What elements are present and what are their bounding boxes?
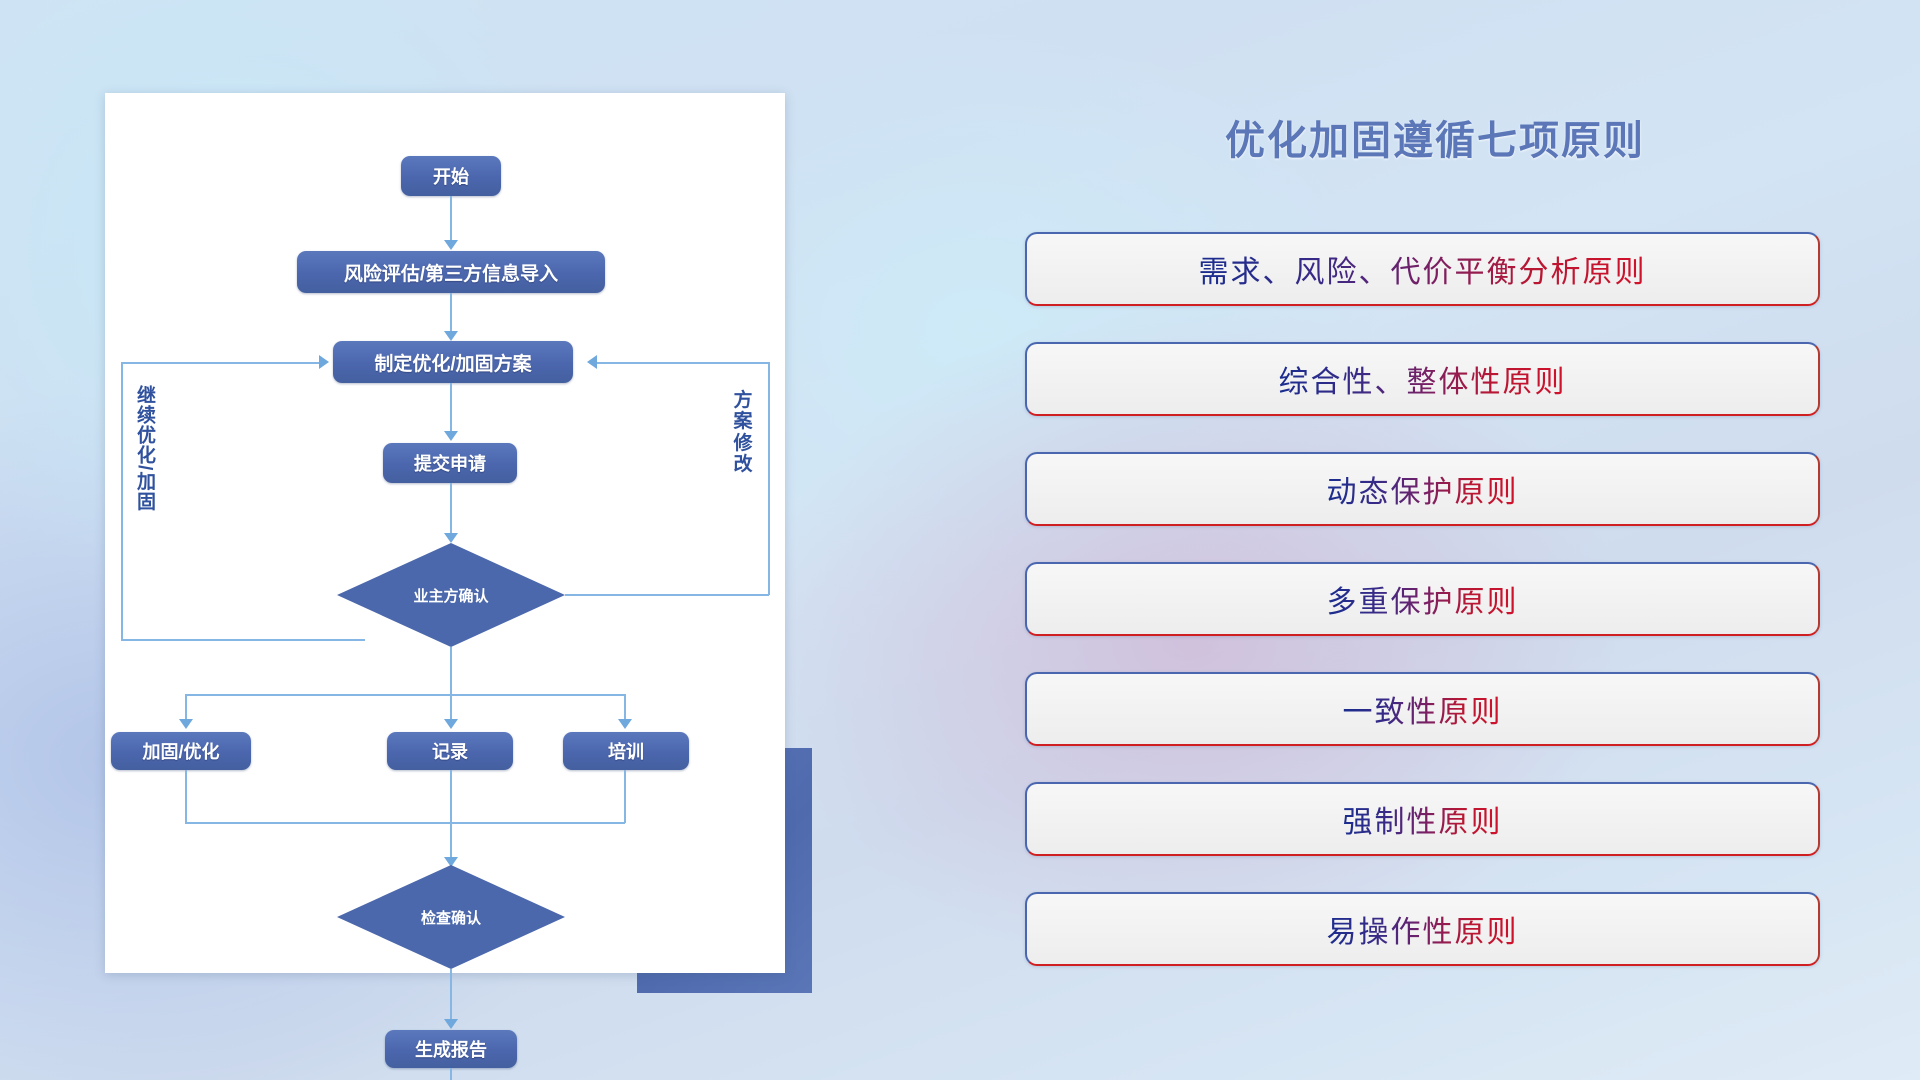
loop-left-vertical bbox=[121, 363, 123, 640]
principle-label: 综合性、整体性原则 bbox=[1279, 357, 1567, 401]
connector-start-to-risk bbox=[450, 196, 452, 244]
principle-item-7[interactable]: 易操作性原则 bbox=[1025, 892, 1820, 966]
flow-decision-inspect-label: 检查确认 bbox=[421, 907, 481, 928]
principle-list: 需求、风险、代价平衡分析原则 综合性、整体性原则 动态保护原则 多重保护原则 一… bbox=[1025, 232, 1820, 1002]
arrow-start-to-risk bbox=[444, 240, 458, 250]
connector-plan-to-submit bbox=[450, 383, 452, 435]
principle-label: 需求、风险、代价平衡分析原则 bbox=[1199, 247, 1647, 291]
principle-label: 多重保护原则 bbox=[1327, 577, 1519, 621]
flow-node-plan[interactable]: 制定优化/加固方案 bbox=[333, 341, 573, 383]
slide-canvas: 开始 风险评估/第三方信息导入 制定优化/加固方案 提交申请 业主方确认 bbox=[0, 0, 1920, 1080]
flow-node-risk-label: 风险评估/第三方信息导入 bbox=[344, 259, 558, 286]
flow-decision-owner-confirm-label: 业主方确认 bbox=[413, 585, 488, 606]
principle-label: 动态保护原则 bbox=[1327, 467, 1519, 511]
arrow-loop-right-into-plan bbox=[587, 355, 597, 369]
principle-item-3[interactable]: 动态保护原则 bbox=[1025, 452, 1820, 526]
connector-report-to-end bbox=[450, 1068, 452, 1080]
connector-risk-to-plan bbox=[450, 293, 452, 335]
flow-node-record[interactable]: 记录 bbox=[387, 732, 513, 770]
flow-node-start-label: 开始 bbox=[433, 163, 469, 189]
arrow-inspect-to-report bbox=[444, 1019, 458, 1029]
flow-node-training[interactable]: 培训 bbox=[563, 732, 689, 770]
principle-label: 一致性原则 bbox=[1343, 687, 1503, 731]
loop-right-bottom-horizontal bbox=[565, 594, 769, 596]
branch-bus-top bbox=[185, 694, 625, 696]
principles-panel: 优化加固遵循七项原则 需求、风险、代价平衡分析原则 综合性、整体性原则 动态保护… bbox=[1020, 0, 1850, 1080]
flow-node-record-label: 记录 bbox=[432, 738, 468, 764]
arrow-submit-to-ownercheck bbox=[444, 533, 458, 543]
loop-right-vertical bbox=[768, 362, 770, 595]
flow-node-report[interactable]: 生成报告 bbox=[385, 1030, 517, 1068]
flowchart-card: 开始 风险评估/第三方信息导入 制定优化/加固方案 提交申请 业主方确认 bbox=[105, 93, 785, 973]
principle-item-5[interactable]: 一致性原则 bbox=[1025, 672, 1820, 746]
arrow-branch-to-record bbox=[444, 719, 458, 729]
principle-item-6[interactable]: 强制性原则 bbox=[1025, 782, 1820, 856]
flow-node-start[interactable]: 开始 bbox=[401, 156, 501, 196]
principle-item-2[interactable]: 综合性、整体性原则 bbox=[1025, 342, 1820, 416]
flow-node-plan-label: 制定优化/加固方案 bbox=[374, 349, 531, 376]
connector-inspect-to-report bbox=[450, 969, 452, 1023]
principle-item-1[interactable]: 需求、风险、代价平衡分析原则 bbox=[1025, 232, 1820, 306]
merge-from-reinforce bbox=[185, 770, 187, 823]
arrow-loop-left-into-plan bbox=[319, 355, 329, 369]
loop-right-label: 方案修改 bbox=[732, 390, 754, 475]
panel-title: 优化加固遵循七项原则 bbox=[1020, 108, 1850, 166]
loop-left-label: 继续优化/加固 bbox=[131, 385, 158, 511]
connector-ownercheck-down bbox=[450, 647, 452, 695]
connector-merge-to-inspect bbox=[450, 822, 452, 861]
flow-node-submit[interactable]: 提交申请 bbox=[383, 443, 517, 483]
flow-node-submit-label: 提交申请 bbox=[414, 450, 486, 476]
principle-item-4[interactable]: 多重保护原则 bbox=[1025, 562, 1820, 636]
principle-label: 易操作性原则 bbox=[1327, 907, 1519, 951]
arrow-branch-to-training bbox=[618, 719, 632, 729]
principle-label: 强制性原则 bbox=[1343, 797, 1503, 841]
arrow-plan-to-submit bbox=[444, 431, 458, 441]
loop-left-bottom-horizontal bbox=[121, 639, 365, 641]
flow-decision-owner-confirm[interactable]: 业主方确认 bbox=[337, 543, 565, 647]
merge-bus-bottom bbox=[185, 822, 625, 824]
merge-from-record bbox=[450, 770, 452, 823]
arrow-branch-to-reinforce bbox=[179, 719, 193, 729]
arrow-risk-to-plan bbox=[444, 331, 458, 341]
flow-node-training-label: 培训 bbox=[608, 738, 644, 764]
merge-from-training bbox=[624, 770, 626, 823]
connector-submit-to-ownercheck bbox=[450, 483, 452, 537]
loop-right-top-horizontal bbox=[597, 362, 769, 364]
loop-left-top-horizontal bbox=[121, 362, 319, 364]
flow-node-report-label: 生成报告 bbox=[415, 1036, 487, 1062]
flow-decision-inspect-confirm[interactable]: 检查确认 bbox=[337, 865, 565, 969]
flow-node-risk[interactable]: 风险评估/第三方信息导入 bbox=[297, 251, 605, 293]
flow-node-reinforce[interactable]: 加固/优化 bbox=[111, 732, 251, 770]
flow-node-reinforce-label: 加固/优化 bbox=[142, 738, 219, 764]
